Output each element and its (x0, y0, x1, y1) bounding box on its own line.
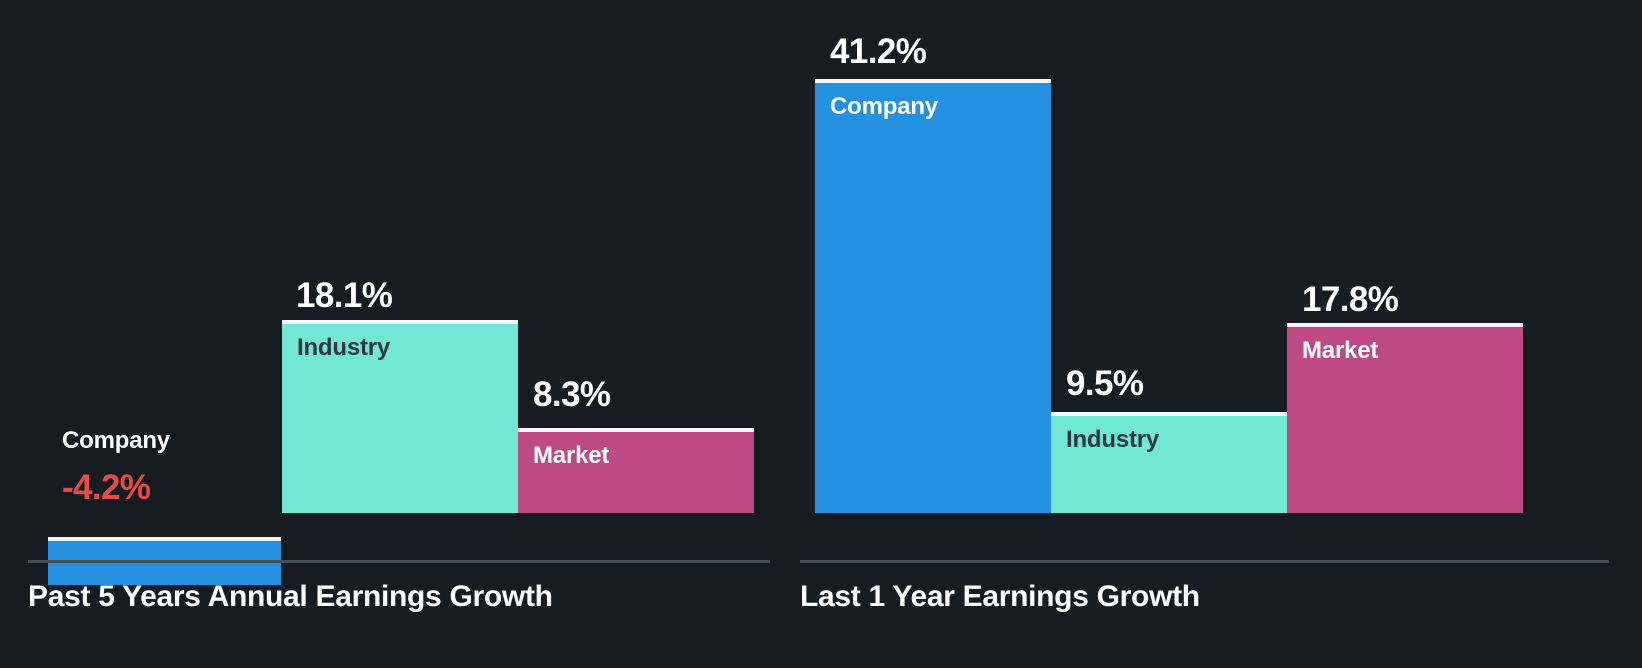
axis-line-left (28, 560, 770, 563)
bar-market-right[interactable]: Market (1287, 323, 1523, 513)
chart-last-1-year: Company 41.2% Industry 9.5% Market 17.8%… (800, 0, 1642, 668)
bar-company-right[interactable]: Company (815, 79, 1051, 513)
bar-industry-right[interactable]: Industry (1051, 412, 1287, 513)
bar-market-left-value: 8.3% (533, 375, 610, 415)
plot-area-left: Company -4.2% Industry 18.1% Market 8.3%… (0, 0, 800, 668)
plot-area-right: Company 41.2% Industry 9.5% Market 17.8%… (800, 0, 1642, 668)
bar-company-right-label: Company (830, 93, 938, 121)
bar-industry-left-value: 18.1% (296, 276, 392, 316)
chart-past-5-years: Company -4.2% Industry 18.1% Market 8.3%… (0, 0, 800, 668)
bar-company-right-body (815, 79, 1051, 513)
bar-company-left-label: Company (62, 427, 170, 455)
bar-industry-right-label: Industry (1066, 426, 1159, 454)
bar-market-left-label: Market (533, 442, 609, 470)
bar-industry-left-label: Industry (297, 334, 390, 362)
bar-company-right-value: 41.2% (830, 32, 926, 72)
bar-company-left-value: -4.2% (62, 468, 150, 508)
bar-industry-left[interactable]: Industry (282, 320, 518, 513)
earnings-growth-comparison: Company -4.2% Industry 18.1% Market 8.3%… (0, 0, 1642, 668)
axis-line-right (800, 560, 1609, 563)
chart-title-right: Last 1 Year Earnings Growth (800, 580, 1200, 614)
bar-market-left[interactable]: Market (518, 428, 754, 513)
bar-market-right-value: 17.8% (1302, 280, 1398, 320)
chart-title-left: Past 5 Years Annual Earnings Growth (28, 580, 553, 614)
bar-market-right-label: Market (1302, 337, 1378, 365)
bar-industry-right-value: 9.5% (1066, 364, 1143, 404)
bar-market-left-body (518, 428, 754, 513)
